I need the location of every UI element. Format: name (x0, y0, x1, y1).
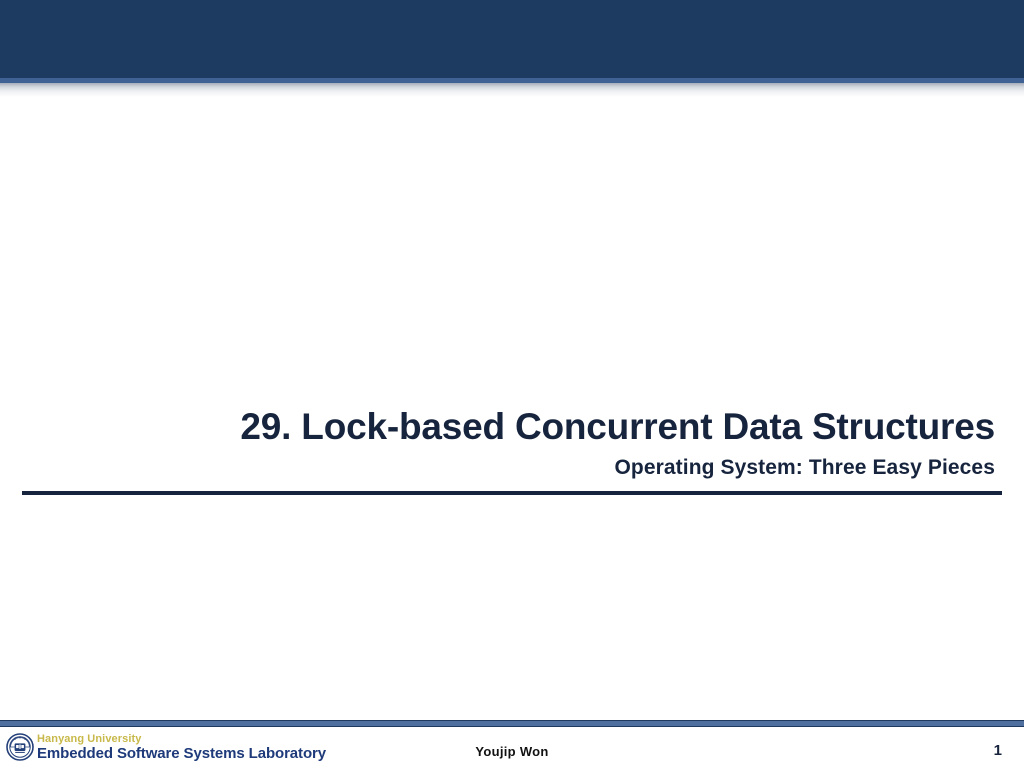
page-number: 1 (994, 742, 1002, 759)
footer-divider (0, 720, 1024, 727)
title-block: 29. Lock-based Concurrent Data Structure… (22, 404, 995, 482)
footer-author: Youjip Won (0, 744, 1024, 759)
slide-canvas: 29. Lock-based Concurrent Data Structure… (0, 0, 1024, 768)
header-band (0, 0, 1024, 78)
page-title: 29. Lock-based Concurrent Data Structure… (22, 404, 995, 450)
header-drop-shadow (0, 83, 1024, 97)
page-subtitle: Operating System: Three Easy Pieces (22, 454, 995, 482)
title-underline-rule (22, 491, 1002, 495)
university-name: Hanyang University (37, 734, 326, 745)
